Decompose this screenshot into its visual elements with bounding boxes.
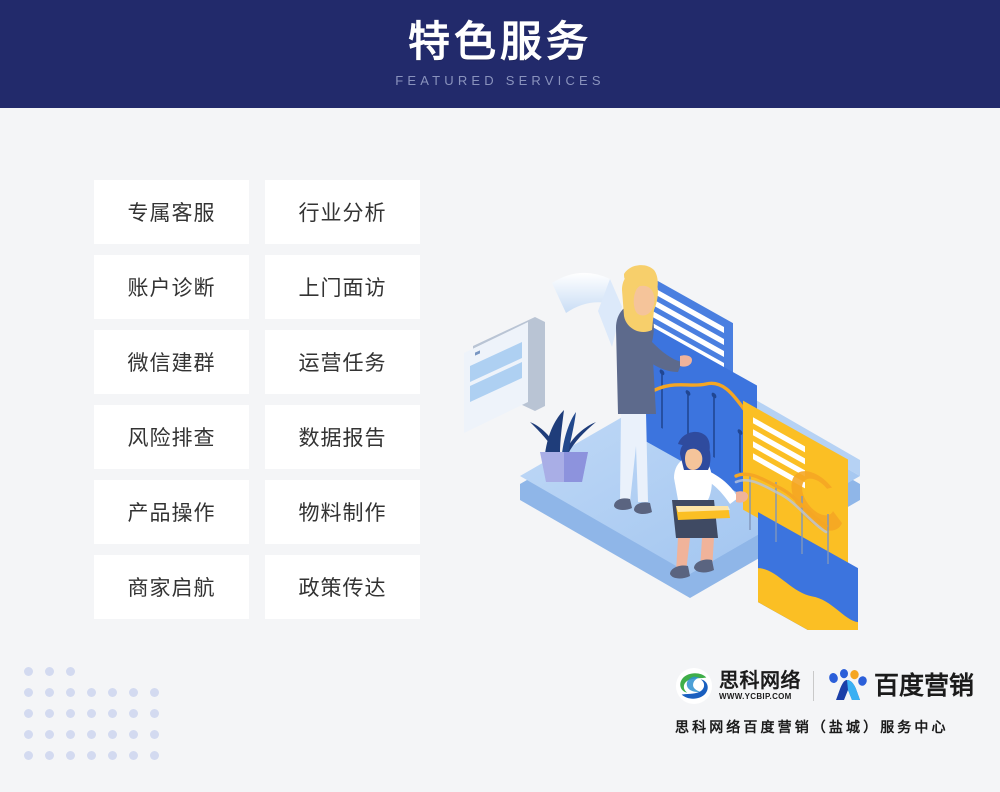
baidu-brand-name: 百度营销 <box>874 674 974 699</box>
service-card-label: 上门面访 <box>299 272 387 302</box>
service-card-label: 数据报告 <box>299 422 387 452</box>
dot <box>150 730 159 739</box>
service-card-label: 运营任务 <box>299 347 387 377</box>
dot <box>108 730 117 739</box>
service-card-3[interactable]: 上门面访 <box>265 255 420 319</box>
dot <box>150 688 159 697</box>
dot <box>108 688 117 697</box>
service-card-label: 政策传达 <box>299 572 387 602</box>
service-card-label: 账户诊断 <box>128 272 216 302</box>
dot <box>24 751 33 760</box>
service-card-5[interactable]: 运营任务 <box>265 330 420 394</box>
service-card-label: 行业分析 <box>299 197 387 227</box>
service-card-label: 物料制作 <box>299 497 387 527</box>
service-card-label: 微信建群 <box>128 347 216 377</box>
baidu-logo: 百度营销 <box>827 669 974 703</box>
service-card-label: 专属客服 <box>128 197 216 227</box>
dot <box>129 730 138 739</box>
page-subtitle: FEATURED SERVICES <box>395 73 605 88</box>
dot-row <box>24 709 159 718</box>
dot <box>108 667 117 676</box>
dot <box>108 751 117 760</box>
ribbon-decoration <box>552 273 622 347</box>
dot <box>24 688 33 697</box>
side-panel-card <box>464 317 545 433</box>
dot <box>24 730 33 739</box>
dot <box>129 688 138 697</box>
service-card-4[interactable]: 微信建群 <box>94 330 249 394</box>
dot <box>87 730 96 739</box>
sike-text-block: 思科网络 WWW.YCBIP.COM <box>719 671 801 701</box>
service-grid: 专属客服 行业分析 账户诊断 上门面访 微信建群 运营任务 风险排查 数据报告 … <box>94 180 420 619</box>
dot <box>87 688 96 697</box>
dot <box>87 667 96 676</box>
featured-services-page: 特色服务 FEATURED SERVICES 专属客服 行业分析 账户诊断 上门… <box>0 0 1000 792</box>
dot <box>66 688 75 697</box>
brand-divider <box>813 671 814 701</box>
dot <box>45 688 54 697</box>
service-card-label: 产品操作 <box>128 497 216 527</box>
dot <box>129 709 138 718</box>
sike-website-url: WWW.YCBIP.COM <box>719 693 801 701</box>
dot <box>150 751 159 760</box>
service-card-0[interactable]: 专属客服 <box>94 180 249 244</box>
dot-grid-decoration <box>24 667 159 772</box>
dot <box>87 709 96 718</box>
dot <box>87 751 96 760</box>
dot <box>24 709 33 718</box>
sike-swoosh-icon <box>675 667 713 705</box>
brand-caption: 思科网络百度营销（盐城）服务中心 <box>675 717 980 737</box>
baidu-paw-icon <box>827 669 867 703</box>
dot <box>45 730 54 739</box>
page-title: 特色服务 <box>408 20 592 64</box>
service-card-10[interactable]: 商家启航 <box>94 555 249 619</box>
service-card-11[interactable]: 政策传达 <box>265 555 420 619</box>
service-card-6[interactable]: 风险排查 <box>94 405 249 469</box>
service-card-label: 风险排查 <box>128 422 216 452</box>
service-card-8[interactable]: 产品操作 <box>94 480 249 544</box>
dot <box>24 667 33 676</box>
dot <box>45 751 54 760</box>
dot <box>66 751 75 760</box>
dot <box>150 709 159 718</box>
dot <box>108 709 117 718</box>
dot <box>45 709 54 718</box>
service-card-9[interactable]: 物料制作 <box>265 480 420 544</box>
service-card-label: 商家启航 <box>128 572 216 602</box>
dot-row <box>24 751 159 760</box>
dot <box>150 667 159 676</box>
dot <box>66 730 75 739</box>
illustration-isometric-analytics <box>440 170 940 630</box>
sike-logo: 思科网络 WWW.YCBIP.COM <box>675 667 801 705</box>
service-card-1[interactable]: 行业分析 <box>265 180 420 244</box>
dot-row <box>24 667 159 676</box>
brand-footer: 思科网络 WWW.YCBIP.COM 百度营销 思科网络百度营销（盐城）服务中心 <box>675 662 980 737</box>
brand-logos-row: 思科网络 WWW.YCBIP.COM 百度营销 <box>675 662 980 710</box>
sike-company-name: 思科网络 <box>719 671 801 692</box>
dot-row <box>24 730 159 739</box>
service-card-2[interactable]: 账户诊断 <box>94 255 249 319</box>
dot <box>129 667 138 676</box>
dot <box>129 751 138 760</box>
dot-row <box>24 688 159 697</box>
service-card-7[interactable]: 数据报告 <box>265 405 420 469</box>
page-header: 特色服务 FEATURED SERVICES <box>0 0 1000 108</box>
dot <box>66 667 75 676</box>
dot <box>45 667 54 676</box>
dot <box>66 709 75 718</box>
